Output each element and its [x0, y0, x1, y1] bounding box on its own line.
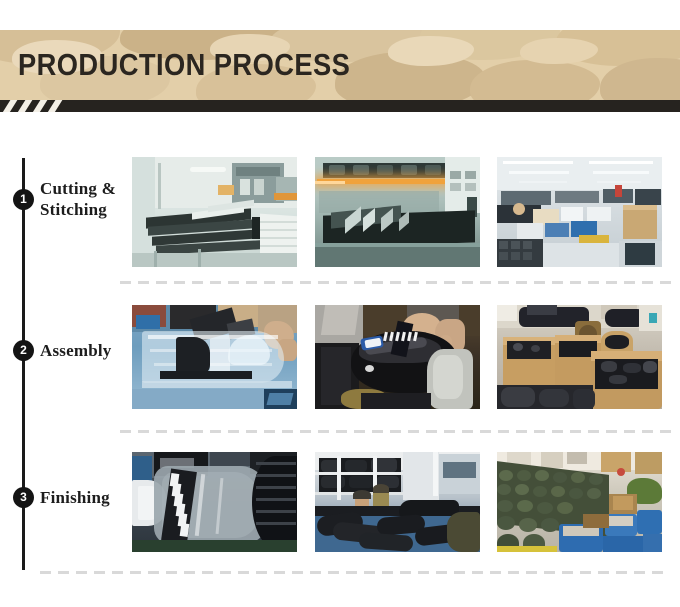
photo-cutting-machine: [132, 157, 297, 267]
photo-shield-assembly: [132, 305, 297, 409]
stripe-slash-icon: [44, 100, 65, 112]
row-separator-2: [120, 430, 676, 433]
photo-boxed-components: [497, 305, 662, 409]
photo-sewing-workshop: [497, 157, 662, 267]
header-dark-stripe: [0, 100, 680, 112]
step-label-1: Cutting & Stitching: [40, 178, 130, 220]
stripe-slash-icon: [14, 100, 35, 112]
photo-heat-press: [315, 157, 480, 267]
step-label-3: Finishing: [40, 487, 130, 508]
photo-sorting-finished-gear: [315, 452, 480, 552]
photo-police-helmet: [315, 305, 480, 409]
header-banner: PRODUCTION PROCESS: [0, 30, 680, 100]
timeline-rail: [22, 158, 25, 570]
row-separator-1: [120, 281, 676, 284]
step-label-2: Assembly: [40, 340, 130, 361]
production-process-page: PRODUCTION PROCESS 1 Cutting & Stitching…: [0, 0, 680, 607]
photo-wrapped-shields: [132, 452, 297, 552]
row-separator-3: [40, 571, 666, 574]
page-title: PRODUCTION PROCESS: [18, 47, 350, 83]
stripe-slash-icon: [29, 100, 50, 112]
stripe-slash-icon: [0, 100, 20, 112]
photo-helmets-and-crates: [497, 452, 662, 552]
step-badge-3: 3: [13, 487, 34, 508]
step-badge-2: 2: [13, 340, 34, 361]
step-badge-1: 1: [13, 189, 34, 210]
